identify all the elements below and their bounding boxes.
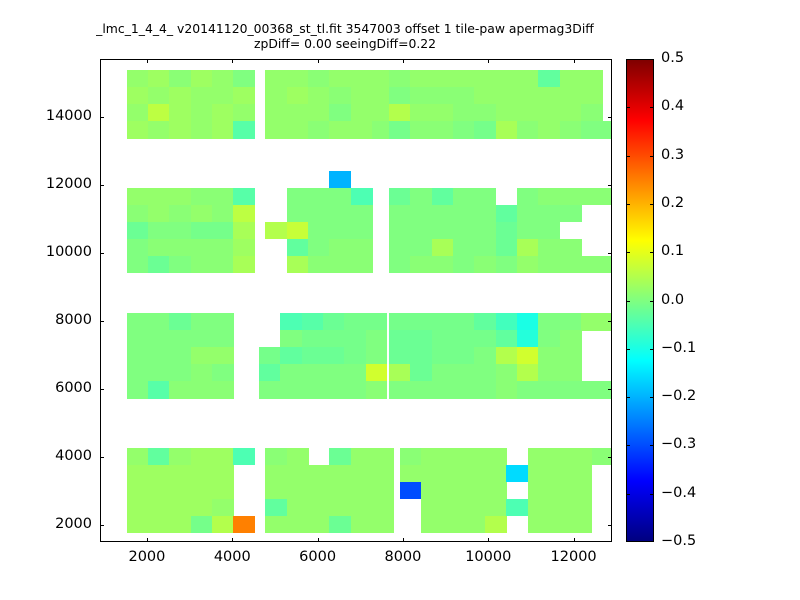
- x-tick-mark: [574, 59, 575, 63]
- heatmap-cell: [549, 516, 571, 534]
- heatmap-cell: [308, 87, 330, 105]
- heatmap-cell: [191, 256, 213, 274]
- heatmap-cell: [169, 239, 191, 257]
- heatmap-cell: [212, 313, 234, 331]
- heatmap-cell: [191, 448, 213, 466]
- heatmap-cell: [581, 70, 603, 88]
- heatmap-cell: [410, 313, 432, 331]
- heatmap-cell: [372, 499, 394, 517]
- heatmap-cell: [517, 70, 539, 88]
- heatmap-cell: [410, 330, 432, 348]
- heatmap-cell: [366, 330, 388, 348]
- heatmap-cell: [453, 381, 475, 399]
- heatmap-cell: [549, 482, 571, 500]
- colorbar-tick-label: 0.1: [661, 243, 684, 259]
- heatmap-cell: [560, 330, 582, 348]
- heatmap-cell: [602, 256, 612, 274]
- heatmap-cell: [389, 104, 411, 122]
- heatmap-cell: [148, 482, 170, 500]
- heatmap-cell: [308, 121, 330, 139]
- heatmap-cell: [127, 222, 149, 240]
- heatmap-cell: [127, 121, 149, 139]
- heatmap-cell: [329, 448, 351, 466]
- heatmap-cell: [581, 188, 603, 206]
- heatmap-cell: [169, 482, 191, 500]
- heatmap-cell: [453, 70, 475, 88]
- colorbar-tick-mark: [626, 397, 630, 398]
- heatmap-cell: [233, 188, 255, 206]
- y-tick-mark: [608, 117, 612, 118]
- colorbar-tick-label: −0.5: [661, 533, 696, 549]
- heatmap-cell: [191, 516, 213, 534]
- heatmap-cell: [372, 516, 394, 534]
- x-tick-mark: [318, 538, 319, 542]
- heatmap-cell: [432, 104, 454, 122]
- heatmap-cell: [212, 256, 234, 274]
- heatmap-cell: [485, 448, 507, 466]
- heatmap-cell: [233, 448, 255, 466]
- heatmap-cell: [287, 256, 309, 274]
- heatmap-cell: [538, 239, 560, 257]
- heatmap-cell: [265, 448, 287, 466]
- heatmap-cell: [560, 239, 582, 257]
- heatmap-cell: [432, 121, 454, 139]
- y-tick-mark: [608, 525, 612, 526]
- heatmap-cell: [191, 482, 213, 500]
- colorbar-tick-mark: [650, 494, 654, 495]
- heatmap-cell: [148, 104, 170, 122]
- heatmap-cell: [351, 516, 373, 534]
- heatmap-cell: [432, 70, 454, 88]
- heatmap-cell: [212, 222, 234, 240]
- heatmap-cell: [528, 516, 550, 534]
- heatmap-cell: [287, 87, 309, 105]
- heatmap-cell: [372, 448, 394, 466]
- heatmap-cell: [410, 87, 432, 105]
- heatmap-cell: [191, 188, 213, 206]
- y-tick-mark: [100, 117, 104, 118]
- heatmap-cell: [287, 465, 309, 483]
- y-tick-mark: [100, 321, 104, 322]
- heatmap-cell: [287, 448, 309, 466]
- heatmap-cell: [265, 499, 287, 517]
- heatmap-cell: [410, 188, 432, 206]
- y-tick-mark: [100, 185, 104, 186]
- heatmap-cell: [474, 188, 496, 206]
- heatmap-cell: [485, 482, 507, 500]
- heatmap-cell: [372, 482, 394, 500]
- heatmap-cell: [287, 121, 309, 139]
- heatmap-cell: [366, 364, 388, 382]
- heatmap-cell: [329, 171, 351, 189]
- heatmap-cell: [581, 87, 603, 105]
- heatmap-cell: [560, 87, 582, 105]
- heatmap-cell: [442, 482, 464, 500]
- heatmap-cell: [517, 87, 539, 105]
- heatmap-cell: [287, 499, 309, 517]
- heatmap-cell: [308, 482, 330, 500]
- heatmap-cell: [329, 499, 351, 517]
- heatmap-cell: [127, 465, 149, 483]
- heatmap-cell: [389, 188, 411, 206]
- heatmap-cell: [212, 381, 234, 399]
- heatmap-cell: [191, 222, 213, 240]
- heatmap-cell: [212, 188, 234, 206]
- heatmap-cell: [287, 188, 309, 206]
- heatmap-cell: [581, 381, 603, 399]
- heatmap-cell: [212, 347, 234, 365]
- heatmap-cell: [485, 516, 507, 534]
- heatmap-cell: [127, 482, 149, 500]
- heatmap-cell: [560, 70, 582, 88]
- heatmap-cell: [287, 70, 309, 88]
- heatmap-cell: [410, 256, 432, 274]
- heatmap-cell: [570, 482, 592, 500]
- x-tick-mark: [574, 538, 575, 542]
- heatmap-cell: [351, 87, 373, 105]
- heatmap-cell: [169, 381, 191, 399]
- heatmap-cell: [538, 313, 560, 331]
- heatmap-cell: [453, 347, 475, 365]
- heatmap-cell: [302, 381, 324, 399]
- colorbar-tick-mark: [626, 301, 630, 302]
- heatmap-cell: [302, 313, 324, 331]
- y-tick-label: 8000: [0, 312, 92, 328]
- y-tick-label: 4000: [0, 448, 92, 464]
- heatmap-cell: [344, 364, 366, 382]
- heatmap-cell: [389, 70, 411, 88]
- heatmap-cell: [400, 448, 422, 466]
- heatmap-cell: [212, 70, 234, 88]
- heatmap-cell: [453, 104, 475, 122]
- heatmap-cell: [287, 239, 309, 257]
- heatmap-cell: [323, 381, 345, 399]
- title-block: _lmc_1_4_4_ v20141120_00368_st_tl.fit 35…: [0, 22, 690, 51]
- heatmap-cell: [233, 222, 255, 240]
- x-tick-mark: [318, 59, 319, 63]
- colorbar-tick-mark: [626, 349, 630, 350]
- heatmap-cell: [570, 465, 592, 483]
- heatmap-cell: [148, 222, 170, 240]
- heatmap-cell: [474, 381, 496, 399]
- heatmap-cell: [329, 188, 351, 206]
- heatmap-cell: [169, 256, 191, 274]
- heatmap-cell: [287, 205, 309, 223]
- heatmap-cell: [169, 499, 191, 517]
- heatmap-cell: [485, 465, 507, 483]
- heatmap-cell: [560, 364, 582, 382]
- heatmap-cell: [560, 313, 582, 331]
- heatmap-cell: [127, 313, 149, 331]
- heatmap-cell: [538, 87, 560, 105]
- heatmap-cell: [410, 364, 432, 382]
- y-tick-mark: [100, 457, 104, 458]
- heatmap-cell: [148, 516, 170, 534]
- heatmap-cell: [389, 313, 411, 331]
- heatmap-cell: [496, 256, 518, 274]
- heatmap-cell: [474, 104, 496, 122]
- heatmap-cell: [517, 188, 539, 206]
- heatmap-cell: [581, 121, 603, 139]
- heatmap-cell: [233, 70, 255, 88]
- heatmap-cell: [432, 205, 454, 223]
- heatmap-cell: [351, 465, 373, 483]
- heatmap-cell: [421, 499, 443, 517]
- heatmap-cell: [351, 499, 373, 517]
- heatmap-cell: [308, 188, 330, 206]
- heatmap-cell: [351, 239, 373, 257]
- heatmap-cell: [329, 465, 351, 483]
- y-tick-mark: [608, 321, 612, 322]
- heatmap-cell: [442, 465, 464, 483]
- heatmap-cell: [517, 313, 539, 331]
- heatmap-cell: [389, 381, 411, 399]
- colorbar-tick-label: 0.3: [661, 147, 684, 163]
- heatmap-cell: [233, 205, 255, 223]
- heatmap-cell: [389, 222, 411, 240]
- figure-canvas: _lmc_1_4_4_ v20141120_00368_st_tl.fit 35…: [0, 0, 800, 600]
- heatmap-cell: [560, 188, 582, 206]
- heatmap-cell: [474, 121, 496, 139]
- y-tick-label: 14000: [0, 108, 92, 124]
- heatmap-cell: [432, 330, 454, 348]
- colorbar-tick-label: −0.3: [661, 436, 696, 452]
- heatmap-cell: [212, 104, 234, 122]
- heatmap-cell: [169, 87, 191, 105]
- y-tick-mark: [100, 525, 104, 526]
- heatmap-cell: [169, 516, 191, 534]
- heatmap-cell: [538, 256, 560, 274]
- colorbar-tick-label: 0.0: [661, 292, 684, 308]
- heatmap-cell: [538, 121, 560, 139]
- heatmap-cell: [432, 364, 454, 382]
- heatmap-cell: [389, 87, 411, 105]
- heatmap-cell: [148, 330, 170, 348]
- heatmap-cell: [560, 205, 582, 223]
- heatmap-cell: [517, 205, 539, 223]
- heatmap-cell: [302, 347, 324, 365]
- heatmap-cell: [400, 465, 422, 483]
- heatmap-cell: [432, 256, 454, 274]
- heatmap-cell: [329, 239, 351, 257]
- heatmap-cell: [212, 499, 234, 517]
- heatmap-cell: [191, 381, 213, 399]
- heatmap-cell: [538, 104, 560, 122]
- heatmap-cell: [212, 364, 234, 382]
- heatmap-cell: [280, 330, 302, 348]
- heatmap-cell: [169, 121, 191, 139]
- heatmap-cell: [265, 70, 287, 88]
- heatmap-cell: [265, 121, 287, 139]
- x-tick-mark: [232, 59, 233, 63]
- heatmap-cell: [389, 330, 411, 348]
- heatmap-cell: [528, 482, 550, 500]
- heatmap-cell: [496, 347, 518, 365]
- heatmap-cell: [308, 205, 330, 223]
- heatmap-cell: [148, 188, 170, 206]
- x-tick-mark: [147, 538, 148, 542]
- y-tick-mark: [608, 389, 612, 390]
- colorbar-tick-mark: [650, 156, 654, 157]
- heatmap-cell: [265, 516, 287, 534]
- heatmap-cell: [474, 222, 496, 240]
- heatmap-cell: [538, 222, 560, 240]
- heatmap-cell: [496, 70, 518, 88]
- heatmap-cell: [148, 313, 170, 331]
- colorbar-tick-mark: [626, 445, 630, 446]
- heatmap-cell: [517, 104, 539, 122]
- heatmap-cell: [265, 104, 287, 122]
- heatmap-cell: [169, 70, 191, 88]
- heatmap-cell: [432, 239, 454, 257]
- heatmap-cell: [212, 448, 234, 466]
- x-tick-mark: [403, 59, 404, 63]
- heatmap-cell: [410, 104, 432, 122]
- heatmap-axes[interactable]: [100, 59, 612, 542]
- heatmap-cell: [308, 239, 330, 257]
- heatmap-cell: [191, 205, 213, 223]
- heatmap-cell: [602, 188, 612, 206]
- heatmap-cell: [280, 313, 302, 331]
- heatmap-cell: [560, 121, 582, 139]
- heatmap-cell: [538, 188, 560, 206]
- heatmap-cell: [400, 482, 422, 500]
- heatmap-cell: [148, 256, 170, 274]
- heatmap-cell: [169, 448, 191, 466]
- heatmap-cell: [389, 364, 411, 382]
- heatmap-cell: [517, 347, 539, 365]
- heatmap-cell: [169, 364, 191, 382]
- heatmap-cell: [474, 313, 496, 331]
- x-tick-mark: [147, 59, 148, 63]
- heatmap-cell: [389, 239, 411, 257]
- heatmap-cell: [169, 205, 191, 223]
- heatmap-cell: [233, 239, 255, 257]
- heatmap-cell: [496, 205, 518, 223]
- heatmap-cell: [148, 347, 170, 365]
- heatmap-cell: [323, 347, 345, 365]
- heatmap-cell: [308, 256, 330, 274]
- heatmap-cell: [191, 121, 213, 139]
- heatmap-cell: [432, 313, 454, 331]
- heatmap-cell: [212, 330, 234, 348]
- heatmap-cell: [212, 205, 234, 223]
- heatmap-cell: [212, 516, 234, 534]
- heatmap-cell: [308, 70, 330, 88]
- heatmap-cell: [410, 347, 432, 365]
- heatmap-cell: [474, 70, 496, 88]
- colorbar-tick-mark: [650, 445, 654, 446]
- y-tick-mark: [608, 253, 612, 254]
- heatmap-cell: [410, 222, 432, 240]
- heatmap-cell: [496, 87, 518, 105]
- heatmap-cell: [329, 222, 351, 240]
- heatmap-cell: [421, 448, 443, 466]
- heatmap-cell: [389, 205, 411, 223]
- heatmap-cell: [410, 239, 432, 257]
- heatmap-cell: [127, 347, 149, 365]
- heatmap-cell: [344, 330, 366, 348]
- heatmap-cell: [432, 222, 454, 240]
- heatmap-cell: [410, 205, 432, 223]
- colorbar-tick-mark: [650, 301, 654, 302]
- heatmap-cell: [148, 87, 170, 105]
- heatmap-cell: [212, 87, 234, 105]
- heatmap-cell: [464, 465, 486, 483]
- heatmap-cell: [517, 239, 539, 257]
- heatmap-cell: [344, 381, 366, 399]
- heatmap-cells: [101, 60, 611, 541]
- heatmap-cell: [259, 364, 281, 382]
- page-subtitle: zpDiff= 0.00 seeingDiff=0.22: [0, 37, 690, 52]
- heatmap-cell: [549, 499, 571, 517]
- heatmap-cell: [280, 381, 302, 399]
- heatmap-cell: [474, 256, 496, 274]
- colorbar-tick-label: −0.2: [661, 388, 696, 404]
- heatmap-cell: [581, 313, 603, 331]
- heatmap-cell: [602, 313, 612, 331]
- heatmap-cell: [517, 330, 539, 348]
- heatmap-cell: [496, 313, 518, 331]
- heatmap-cell: [549, 448, 571, 466]
- heatmap-cell: [127, 448, 149, 466]
- colorbar-tick-mark: [650, 107, 654, 108]
- page-title: _lmc_1_4_4_ v20141120_00368_st_tl.fit 35…: [0, 22, 690, 37]
- heatmap-cell: [265, 482, 287, 500]
- heatmap-cell: [432, 381, 454, 399]
- heatmap-cell: [581, 104, 603, 122]
- colorbar-tick-label: −0.4: [661, 485, 696, 501]
- heatmap-cell: [474, 87, 496, 105]
- y-tick-label: 6000: [0, 380, 92, 396]
- heatmap-cell: [474, 364, 496, 382]
- heatmap-cell: [410, 121, 432, 139]
- heatmap-cell: [496, 222, 518, 240]
- heatmap-cell: [570, 516, 592, 534]
- heatmap-cell: [191, 239, 213, 257]
- heatmap-cell: [308, 516, 330, 534]
- heatmap-cell: [442, 448, 464, 466]
- heatmap-cell: [344, 313, 366, 331]
- heatmap-cell: [212, 239, 234, 257]
- colorbar-tick-mark: [626, 252, 630, 253]
- y-tick-label: 10000: [0, 244, 92, 260]
- heatmap-cell: [421, 465, 443, 483]
- heatmap-cell: [464, 516, 486, 534]
- heatmap-cell: [453, 330, 475, 348]
- heatmap-cell: [421, 482, 443, 500]
- heatmap-cell: [570, 448, 592, 466]
- heatmap-cell: [169, 222, 191, 240]
- heatmap-cell: [366, 313, 388, 331]
- heatmap-cell: [329, 104, 351, 122]
- heatmap-cell: [464, 448, 486, 466]
- heatmap-cell: [474, 239, 496, 257]
- colorbar-tick-mark: [626, 204, 630, 205]
- heatmap-cell: [169, 104, 191, 122]
- heatmap-cell: [538, 347, 560, 365]
- heatmap-cell: [148, 381, 170, 399]
- heatmap-cell: [329, 256, 351, 274]
- colorbar-tick-mark: [626, 107, 630, 108]
- heatmap-cell: [329, 70, 351, 88]
- heatmap-cell: [389, 347, 411, 365]
- heatmap-cell: [212, 121, 234, 139]
- heatmap-cell: [351, 256, 373, 274]
- heatmap-cell: [351, 70, 373, 88]
- heatmap-cell: [560, 381, 582, 399]
- heatmap-cell: [169, 465, 191, 483]
